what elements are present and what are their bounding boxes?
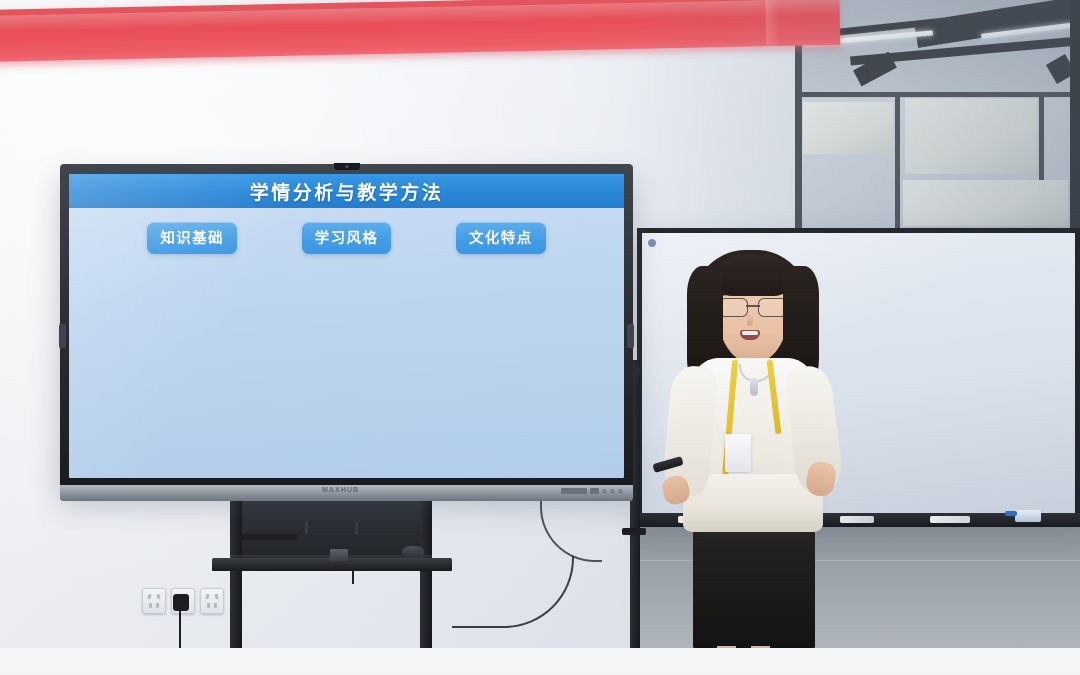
necklace (739, 364, 769, 400)
shelf-cable (352, 568, 354, 584)
brand-logo: MAXHUB (322, 487, 359, 494)
shelf-puck-device[interactable] (402, 546, 424, 558)
nose (747, 314, 753, 326)
white-marker[interactable] (930, 516, 970, 523)
cart-crossbar (240, 534, 298, 540)
glass-mullion (895, 92, 900, 248)
cart-mount-bracket (355, 522, 358, 534)
panel-port-row (561, 488, 623, 494)
banner-fold (765, 0, 780, 46)
spray-bottle[interactable] (1015, 510, 1041, 522)
shelf-device[interactable] (330, 549, 348, 561)
slide-chip-learning-style[interactable]: 学习风格 (302, 222, 392, 254)
glass-frame-right (1070, 0, 1080, 248)
slide-chip-row: 知识基础 学习风格 文化特点 (69, 222, 624, 254)
wall-socket[interactable] (142, 588, 166, 614)
slide-title: 学情分析与教学方法 (250, 178, 444, 205)
overhead-red-banner (0, 0, 840, 62)
slide-chip-knowledge-base[interactable]: 知识基础 (147, 222, 237, 254)
glass-pane (903, 180, 1068, 226)
mouth (740, 330, 760, 340)
eyeglasses-icon (719, 298, 787, 315)
video-frame: 学情分析与教学方法 知识基础 学习风格 文化特点 MAXHUB (0, 0, 1080, 675)
wall-socket[interactable] (200, 588, 224, 614)
lens-left (719, 298, 748, 317)
presenter (655, 248, 865, 650)
panel-side-button-left[interactable] (59, 324, 66, 348)
panel-side-button-right[interactable] (627, 324, 634, 348)
panel-bottom-bezel: MAXHUB (60, 485, 633, 501)
slide-chip-cultural-traits[interactable]: 文化特点 (456, 222, 546, 254)
glass-mullion (1039, 92, 1044, 180)
hair-fringe (713, 254, 793, 296)
interactive-flat-panel[interactable]: 学情分析与教学方法 知识基础 学习风格 文化特点 MAXHUB (60, 164, 633, 491)
panel-screen[interactable]: 学情分析与教学方法 知识基础 学习风格 文化特点 (69, 174, 624, 478)
camera-icon (334, 163, 360, 170)
id-badge (725, 434, 751, 472)
glass-pane (905, 98, 1037, 174)
power-plug[interactable] (173, 594, 189, 611)
black-skirt (693, 526, 815, 650)
letterbox-bar (0, 648, 1080, 675)
cart-mount-bracket (305, 522, 308, 534)
glass-mullion (795, 92, 1080, 97)
glass-pane (803, 102, 893, 154)
slide-title-bar: 学情分析与教学方法 (69, 174, 624, 208)
slide-surface: 学情分析与教学方法 知识基础 学习风格 文化特点 (69, 174, 624, 478)
glasses-bridge (746, 305, 760, 307)
screen-glare (69, 174, 624, 478)
whiteboard-stand-foot (622, 528, 646, 535)
